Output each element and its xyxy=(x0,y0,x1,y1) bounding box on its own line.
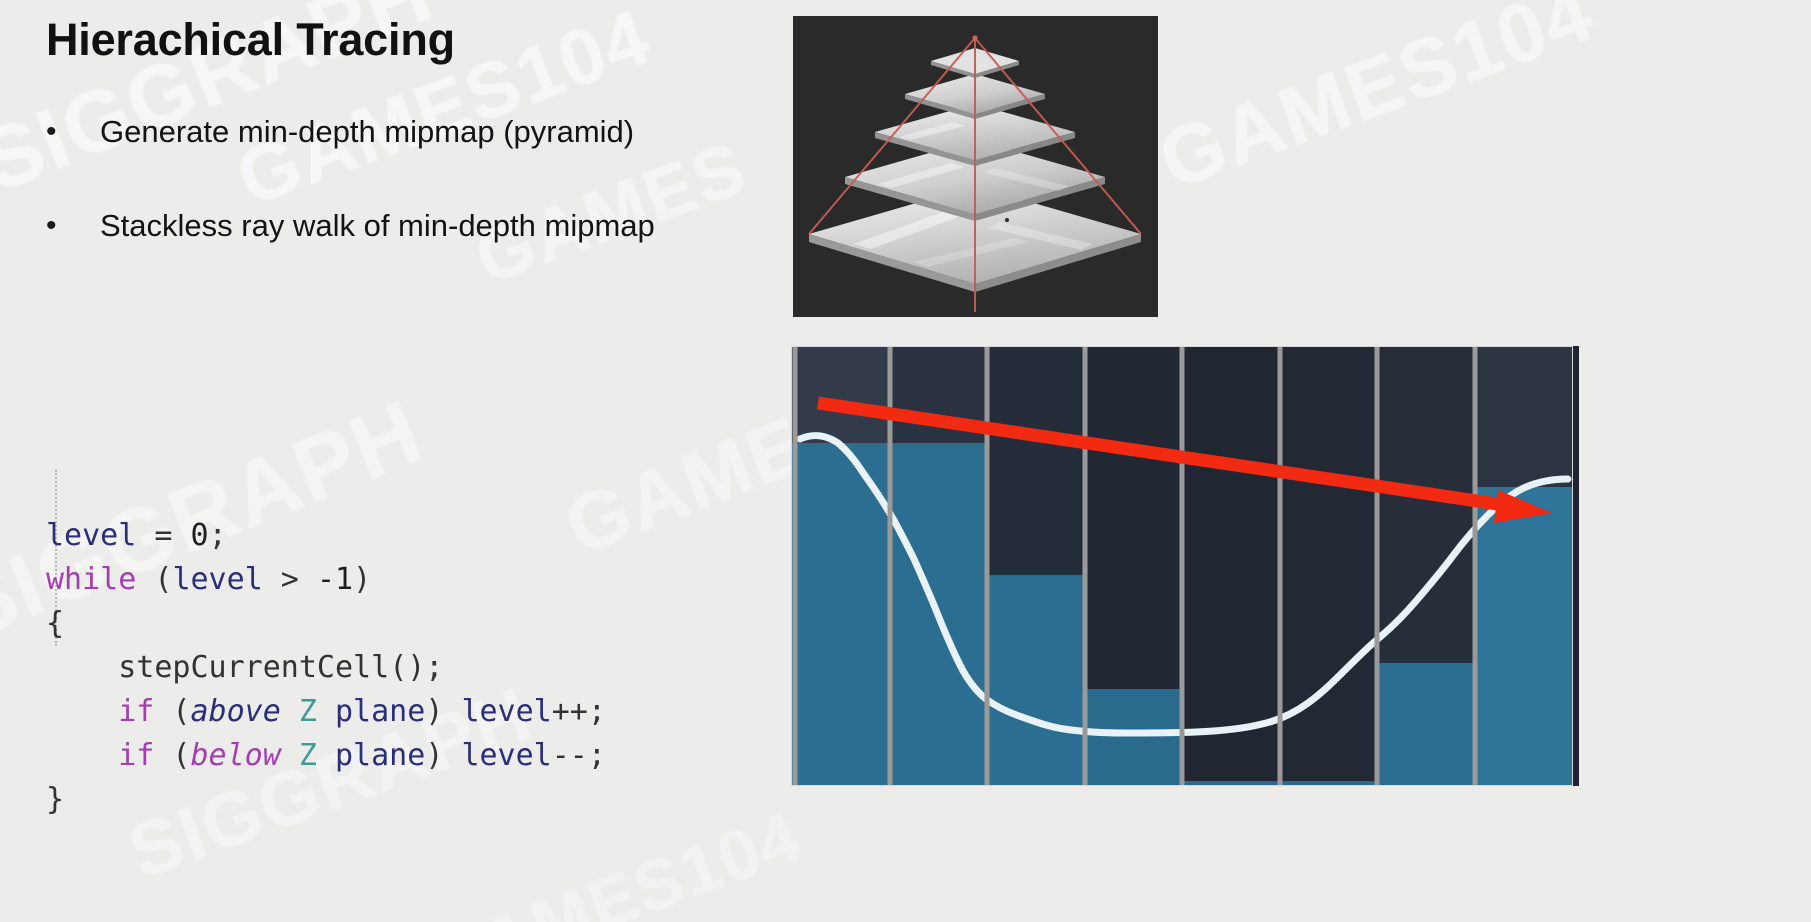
depth-buffer-figure xyxy=(791,346,1573,786)
ray-origin-point xyxy=(972,35,977,40)
code-token xyxy=(317,738,335,773)
code-line: if (above Z plane) level++; xyxy=(46,690,606,734)
code-token: above xyxy=(191,694,281,729)
bullet-list: • Generate min-depth mipmap (pyramid) • … xyxy=(46,112,766,300)
list-item: • Stackless ray walk of min-depth mipmap xyxy=(46,206,766,246)
code-token: --; xyxy=(552,738,606,773)
code-token: = xyxy=(136,518,190,553)
code-token: 0 xyxy=(191,518,209,553)
code-token: > xyxy=(263,562,317,597)
code-token xyxy=(46,738,118,773)
code-token: stepCurrentCell xyxy=(118,650,389,685)
code-line: { xyxy=(46,602,606,646)
code-token: ) xyxy=(353,562,371,597)
code-token: if xyxy=(118,694,154,729)
slide-content-column: Hierachical Tracing • Generate min-depth… xyxy=(0,0,790,922)
code-token xyxy=(281,694,299,729)
code-token: ( xyxy=(154,694,190,729)
panel-right-edge xyxy=(1573,346,1579,786)
code-token xyxy=(281,738,299,773)
code-line: stepCurrentCell(); xyxy=(46,646,606,690)
code-block: level = 0;while (level > -1){ stepCurren… xyxy=(46,382,606,910)
watermark-text: GAMES104 xyxy=(1148,0,1606,209)
code-token: plane xyxy=(335,738,425,773)
code-token xyxy=(46,694,118,729)
code-lines: level = 0;while (level > -1){ stepCurren… xyxy=(46,514,606,822)
slide-root: SIGGRAPH GAMES104 GAMES GAMES104 SIGGRAP… xyxy=(0,0,1811,922)
code-token: plane xyxy=(335,694,425,729)
code-token: } xyxy=(46,782,64,817)
code-token: if xyxy=(118,738,154,773)
surface-marker-dot xyxy=(1005,218,1009,222)
bullet-marker-icon: • xyxy=(46,206,66,246)
code-token: ++; xyxy=(552,694,606,729)
code-token: level xyxy=(172,562,262,597)
code-token: below xyxy=(191,738,281,773)
code-token: ) xyxy=(425,694,461,729)
bullet-text: Stackless ray walk of min-depth mipmap xyxy=(100,206,655,246)
code-token: (); xyxy=(389,650,443,685)
code-token: level xyxy=(461,694,551,729)
code-token: Z xyxy=(299,694,317,729)
bullet-text: Generate min-depth mipmap (pyramid) xyxy=(100,112,634,152)
list-item: • Generate min-depth mipmap (pyramid) xyxy=(46,112,766,152)
code-line: while (level > -1) xyxy=(46,558,606,602)
page-title: Hierachical Tracing xyxy=(46,14,455,66)
code-line: if (below Z plane) level--; xyxy=(46,734,606,778)
code-token: while xyxy=(46,562,136,597)
code-token: level xyxy=(461,738,551,773)
code-token xyxy=(46,650,118,685)
code-token: ( xyxy=(136,562,172,597)
code-token: -1 xyxy=(317,562,353,597)
code-token: ; xyxy=(209,518,227,553)
pyramid-figure xyxy=(793,16,1158,317)
code-line: } xyxy=(46,778,606,822)
code-token: ( xyxy=(154,738,190,773)
bullet-marker-icon: • xyxy=(46,112,66,152)
depth-diagram-svg xyxy=(792,347,1572,785)
code-token: Z xyxy=(299,738,317,773)
code-token: { xyxy=(46,606,64,641)
code-token: level xyxy=(46,518,136,553)
code-token: ) xyxy=(425,738,461,773)
pyramid-diagram-svg xyxy=(793,16,1158,317)
code-line: level = 0; xyxy=(46,514,606,558)
code-token xyxy=(317,694,335,729)
